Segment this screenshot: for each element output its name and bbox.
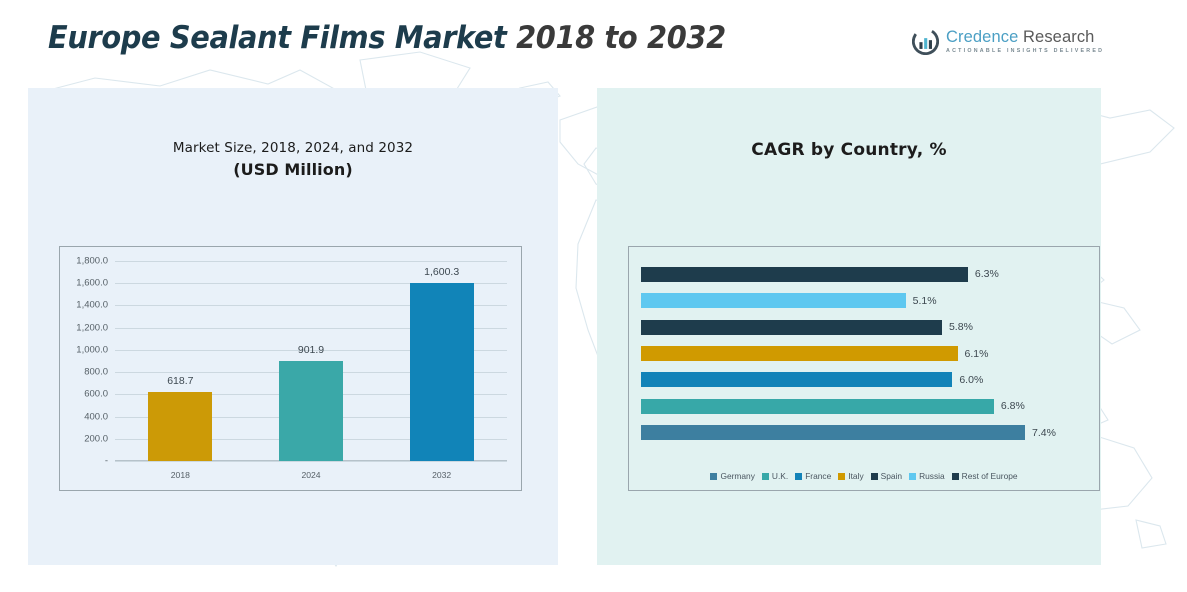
bar: 618.72018 <box>148 392 212 461</box>
y-axis-tick-label: 1,400.0 <box>76 300 108 311</box>
bar <box>641 293 906 308</box>
logo-name-first: Credence <box>946 28 1018 46</box>
gridline <box>115 461 507 462</box>
legend-item[interactable]: Spain <box>871 471 902 481</box>
bar <box>641 267 968 282</box>
bar-value-label: 618.7 <box>167 375 193 387</box>
logo-name: Credence Research <box>946 29 1104 46</box>
panel-cagr: CAGR by Country, % 6.3%5.1%5.8%6.1%6.0%6… <box>597 88 1101 565</box>
bar-value-label: 6.8% <box>1001 400 1025 412</box>
bar-value-label: 5.8% <box>949 321 973 333</box>
legend-item[interactable]: U.K. <box>762 471 788 481</box>
bar-row: 5.8% <box>641 320 1087 335</box>
legend-swatch-icon <box>795 473 802 480</box>
x-axis-category-label: 2024 <box>301 470 320 480</box>
legend-label: Russia <box>919 471 945 481</box>
cagr-bar-chart: 6.3%5.1%5.8%6.1%6.0%6.8%7.4% GermanyU.K.… <box>628 246 1100 491</box>
legend-item[interactable]: Italy <box>838 471 863 481</box>
legend-label: Spain <box>881 471 902 481</box>
x-axis-category-label: 2032 <box>432 470 451 480</box>
bar-row: 6.1% <box>641 346 1087 361</box>
left-chart-plot-area: 1,800.01,600.01,400.01,200.01,000.0800.0… <box>115 261 507 461</box>
bar-row: 6.3% <box>641 267 1087 282</box>
y-axis-tick-label: 1,000.0 <box>76 344 108 355</box>
bar <box>641 320 942 335</box>
logo-name-second: Research <box>1023 28 1094 46</box>
bar <box>641 399 994 414</box>
y-axis-tick-label: 800.0 <box>84 367 108 378</box>
bar-value-label: 6.3% <box>975 268 999 280</box>
left-panel-subtitle: Market Size, 2018, 2024, and 2032 <box>28 140 558 156</box>
legend-label: U.K. <box>772 471 788 481</box>
legend-label: Germany <box>720 471 754 481</box>
bar: 1,600.32032 <box>410 283 474 461</box>
bar-value-label: 7.4% <box>1032 427 1056 439</box>
title-secondary: 2018 to 2032 <box>506 20 725 56</box>
bar: 901.92024 <box>279 361 343 461</box>
y-axis-tick-label: 400.0 <box>84 411 108 422</box>
page-title: Europe Sealant Films Market 2018 to 2032 <box>48 20 726 56</box>
bar-row: 6.0% <box>641 372 1087 387</box>
logo-text: Credence Research Actionable Insights De… <box>946 29 1104 54</box>
header: Europe Sealant Films Market 2018 to 2032… <box>0 0 1187 88</box>
legend-item[interactable]: Germany <box>710 471 754 481</box>
gridline <box>115 261 507 262</box>
y-axis-tick-label: - <box>105 456 108 467</box>
legend-label: Italy <box>848 471 863 481</box>
legend-item[interactable]: Rest of Europe <box>952 471 1018 481</box>
right-chart-plot-area: 6.3%5.1%5.8%6.1%6.0%6.8%7.4% <box>641 261 1087 446</box>
bar-value-label: 6.1% <box>965 348 989 360</box>
bar <box>641 372 952 387</box>
legend-item[interactable]: France <box>795 471 831 481</box>
bar <box>641 425 1025 440</box>
bar-value-label: 1,600.3 <box>424 266 459 278</box>
legend-label: Rest of Europe <box>962 471 1018 481</box>
bar-row: 6.8% <box>641 399 1087 414</box>
legend-swatch-icon <box>952 473 959 480</box>
right-panel-title: CAGR by Country, % <box>597 140 1101 160</box>
panel-market-size: Market Size, 2018, 2024, and 2032 (USD M… <box>28 88 558 565</box>
bar-value-label: 901.9 <box>298 344 324 356</box>
cagr-legend: GermanyU.K.FranceItalySpainRussiaRest of… <box>629 471 1099 481</box>
bar-row: 7.4% <box>641 425 1087 440</box>
bar <box>641 346 958 361</box>
legend-swatch-icon <box>762 473 769 480</box>
logo-tagline: Actionable Insights Delivered <box>946 49 1104 54</box>
legend-item[interactable]: Russia <box>909 471 945 481</box>
legend-label: France <box>805 471 831 481</box>
x-axis-category-label: 2018 <box>171 470 190 480</box>
market-size-bar-chart: 1,800.01,600.01,400.01,200.01,000.0800.0… <box>59 246 522 491</box>
title-primary: Europe Sealant Films Market <box>48 20 506 56</box>
legend-swatch-icon <box>710 473 717 480</box>
infographic-root: Europe Sealant Films Market 2018 to 2032… <box>0 0 1187 592</box>
bar-chart-circle-icon <box>912 28 939 55</box>
bar-value-label: 6.0% <box>959 374 983 386</box>
legend-swatch-icon <box>838 473 845 480</box>
bar-value-label: 5.1% <box>913 295 937 307</box>
brand-logo[interactable]: Credence Research Actionable Insights De… <box>912 28 1104 55</box>
left-panel-title: (USD Million) <box>28 160 558 179</box>
y-axis-tick-label: 600.0 <box>84 389 108 400</box>
y-axis-tick-label: 200.0 <box>84 433 108 444</box>
y-axis-tick-label: 1,800.0 <box>76 256 108 267</box>
bar-row: 5.1% <box>641 293 1087 308</box>
y-axis-tick-label: 1,600.0 <box>76 278 108 289</box>
y-axis-tick-label: 1,200.0 <box>76 322 108 333</box>
legend-swatch-icon <box>871 473 878 480</box>
legend-swatch-icon <box>909 473 916 480</box>
